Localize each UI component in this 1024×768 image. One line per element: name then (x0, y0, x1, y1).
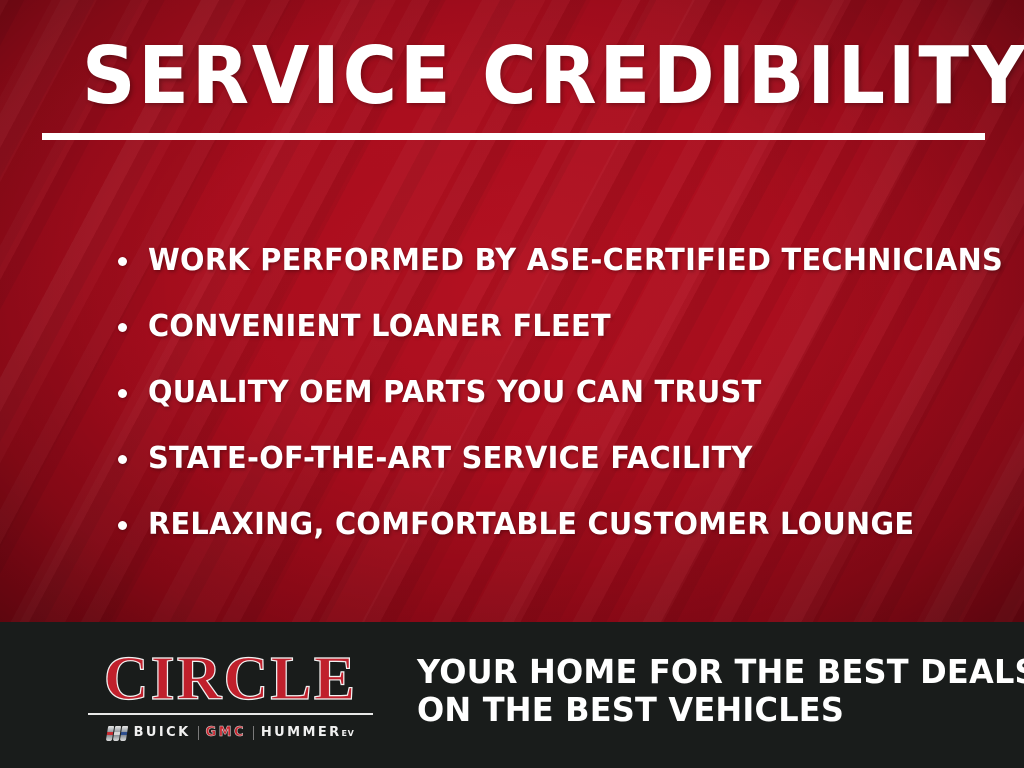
bullet-dot-icon (118, 389, 127, 398)
brand-separator (253, 726, 254, 740)
logo-divider (88, 713, 373, 715)
brand-label-buick: BUICK (134, 725, 191, 741)
list-item: WORK PERFORMED BY ASE-CERTIFIED TECHNICI… (118, 228, 998, 294)
footer-tagline-line2: ON THE BEST VEHICLES (417, 691, 1024, 729)
brand-label-gmc: GMC (206, 725, 246, 741)
buick-tri-shield-icon (107, 726, 127, 741)
footer-tagline-line1: YOUR HOME FOR THE BEST DEALS (417, 653, 1024, 691)
bullet-dot-icon (118, 455, 127, 464)
list-item-label: CONVENIENT LOANER FLEET (148, 310, 611, 344)
bullet-dot-icon (118, 257, 127, 266)
list-item-label: STATE-OF-THE-ART SERVICE FACILITY (148, 442, 753, 476)
footer-tagline: YOUR HOME FOR THE BEST DEALS ON THE BEST… (417, 653, 1024, 729)
list-item-label: QUALITY OEM PARTS YOU CAN TRUST (148, 376, 762, 410)
footer-bar: CIRCLE BUICK GMC HUMMEREV YOUR HOME FOR … (0, 622, 1024, 768)
dealer-logo: CIRCLE BUICK GMC HUMMEREV (88, 648, 373, 742)
brand-separator (198, 726, 199, 740)
title-underline-rule (42, 133, 985, 140)
brand-label-hummer: HUMMEREV (261, 725, 354, 742)
list-item: CONVENIENT LOANER FLEET (118, 294, 998, 360)
promo-slide: SERVICE CREDIBILITY WORK PERFORMED BY AS… (0, 0, 1024, 768)
dealer-wordmark: CIRCLE (88, 648, 373, 710)
brand-label-hummer-text: HUMMER (261, 725, 342, 740)
list-item: RELAXING, COMFORTABLE CUSTOMER LOUNGE (118, 492, 998, 558)
bullet-list: WORK PERFORMED BY ASE-CERTIFIED TECHNICI… (118, 228, 998, 558)
bullet-dot-icon (118, 521, 127, 530)
bullet-dot-icon (118, 323, 127, 332)
list-item: QUALITY OEM PARTS YOU CAN TRUST (118, 360, 998, 426)
brand-strip: BUICK GMC HUMMEREV (88, 724, 373, 742)
list-item-label: WORK PERFORMED BY ASE-CERTIFIED TECHNICI… (148, 244, 1003, 278)
page-title: SERVICE CREDIBILITY (82, 33, 1024, 119)
list-item-label: RELAXING, COMFORTABLE CUSTOMER LOUNGE (148, 508, 914, 542)
list-item: STATE-OF-THE-ART SERVICE FACILITY (118, 426, 998, 492)
brand-label-hummer-ev-suffix: EV (342, 729, 355, 738)
